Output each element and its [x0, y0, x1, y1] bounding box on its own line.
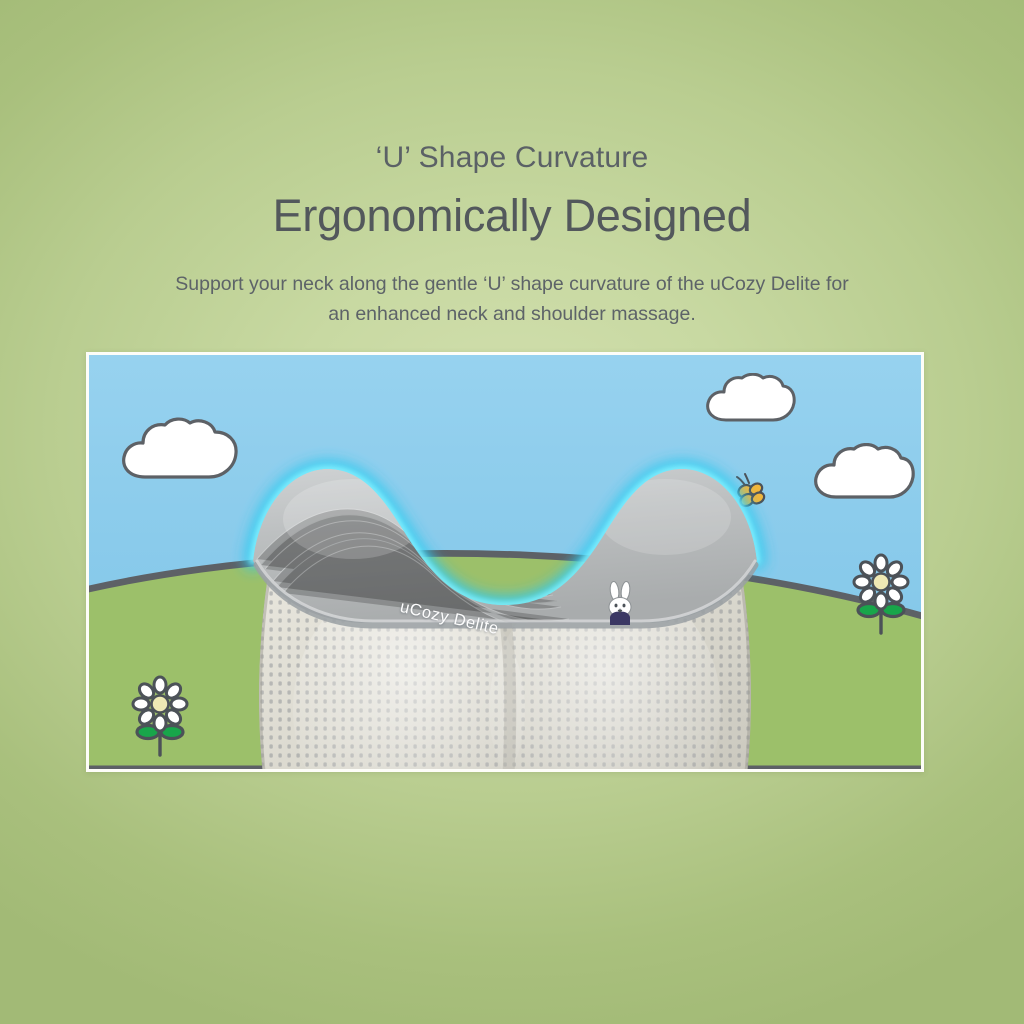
hero-headline: Ergonomically Designed [0, 188, 1024, 244]
cloud-icon-right [812, 443, 916, 507]
flower-icon-left [131, 675, 189, 759]
hero-subcopy-line-2: an enhanced neck and shoulder massage. [127, 300, 897, 330]
hero-subcopy: Support your neck along the gentle ‘U’ s… [127, 270, 897, 329]
hero-subcopy-line-1: Support your neck along the gentle ‘U’ s… [127, 270, 897, 300]
hero-section: ‘U’ Shape Curvature Ergonomically Design… [0, 140, 1024, 330]
flower-icon-right [852, 553, 910, 637]
illustrated-scene: uCozy Delite [89, 355, 921, 769]
bunny-mascot-icon [602, 581, 640, 627]
product-image-panel: uCozy Delite [86, 352, 924, 772]
hero-eyebrow: ‘U’ Shape Curvature [0, 140, 1024, 176]
ucozy-delite-pillow: uCozy Delite [213, 409, 797, 769]
